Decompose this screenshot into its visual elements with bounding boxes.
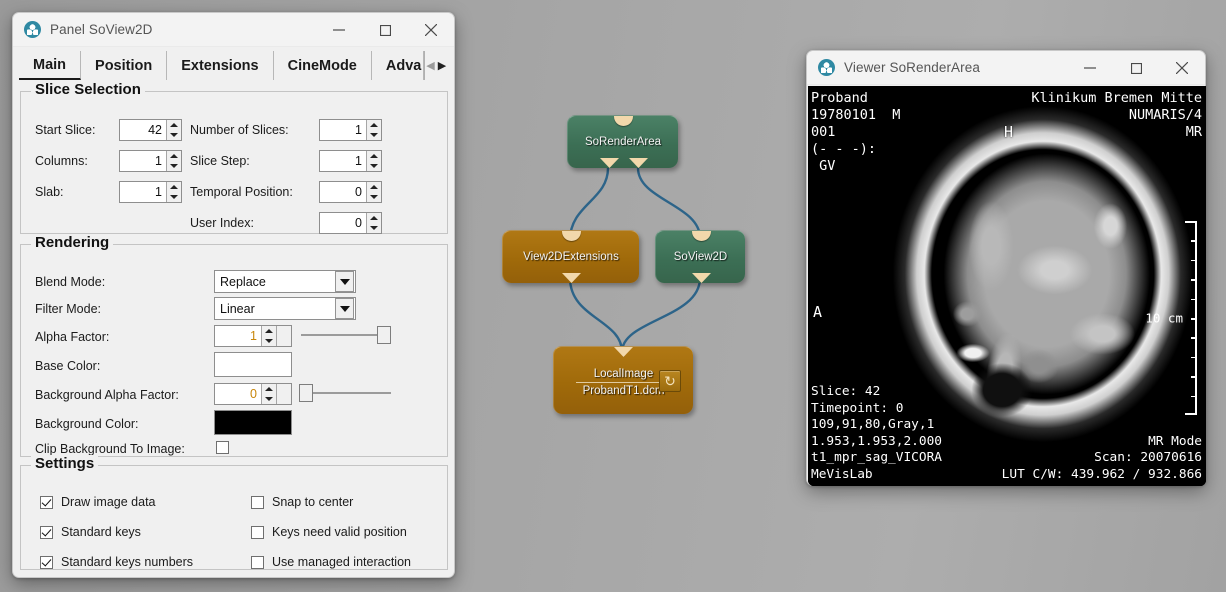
spin-down-icon[interactable]: [367, 223, 381, 233]
scale-bar-tick: [1191, 260, 1197, 262]
node-sublabel: ProbandT1.dcm: [583, 385, 665, 397]
checkbox-box[interactable]: [216, 441, 229, 454]
node-so-view2d[interactable]: SoView2D: [655, 230, 745, 283]
label-alpha-factor: Alpha Factor:: [35, 330, 109, 344]
group-rendering: Rendering Blend Mode: Replace Filter Mod…: [20, 244, 448, 457]
node-local-image[interactable]: LocalImage ProbandT1.dcm ↻: [553, 346, 693, 414]
combo-filter-mode[interactable]: Linear: [214, 297, 356, 320]
spin-arrows[interactable]: [366, 151, 381, 171]
checkbox-standard-keys-numbers[interactable]: Standard keys numbers: [40, 555, 193, 569]
group-slice-selection: Slice Selection Start Slice: 42 Number o…: [20, 91, 448, 234]
mevislab-icon: [24, 21, 41, 38]
spin-columns[interactable]: 1: [119, 150, 182, 172]
mri-detail: [951, 338, 995, 368]
tab-advanced[interactable]: Adva: [372, 51, 424, 80]
node-label: SoView2D: [674, 251, 728, 263]
viewer-canvas[interactable]: Proband 19780101 M 001 (- - -): GV Klini…: [808, 86, 1206, 486]
checkbox-label: Snap to center: [272, 495, 353, 509]
tab-label: CineMode: [288, 58, 357, 74]
spin-temporal-position[interactable]: 0: [319, 181, 382, 203]
spin-up-icon[interactable]: [167, 120, 181, 130]
close-icon[interactable]: [1159, 51, 1205, 85]
checkbox-box[interactable]: [251, 526, 264, 539]
spin-arrows[interactable]: [166, 120, 181, 140]
node-output-port[interactable]: [562, 273, 581, 283]
spin-down-icon[interactable]: [367, 192, 381, 202]
spin-up-icon[interactable]: [367, 151, 381, 161]
checkbox-draw-image-data[interactable]: Draw image data: [40, 495, 156, 509]
spin-arrows[interactable]: [366, 182, 381, 202]
tab-cinemode[interactable]: CineMode: [274, 51, 372, 80]
overlay-bottom-right: MR Mode Scan: 20070616 LUT C/W: 439.962 …: [1002, 434, 1202, 484]
scale-bar: 10 cm: [1127, 221, 1197, 415]
spin-value: 0: [320, 213, 366, 233]
node-label: SoRenderArea: [585, 136, 661, 148]
spin-user-index[interactable]: 0: [319, 212, 382, 234]
viewer-window: Viewer SoRenderArea Proband 19780101 M 0…: [806, 50, 1206, 486]
minimize-icon[interactable]: [316, 13, 362, 47]
panel-tabbar: Main Position Extensions CineMode Adva ◀…: [19, 49, 448, 80]
spin-value: 1: [120, 151, 166, 171]
connection-line: [570, 278, 622, 352]
overlay-top-right: Klinikum Bremen Mitte NUMARIS/4 MR: [1031, 90, 1202, 141]
spin-arrows[interactable]: [166, 182, 181, 202]
label-clip-background-to-image: Clip Background To Image:: [35, 442, 185, 456]
color-background[interactable]: [214, 410, 292, 435]
spin-value: 1: [120, 182, 166, 202]
panel-titlebar[interactable]: Panel SoView2D: [13, 13, 454, 47]
spin-down-icon[interactable]: [367, 161, 381, 171]
spin-value: 1: [215, 326, 261, 346]
checkbox-box[interactable]: [251, 496, 264, 509]
tab-label: Position: [95, 58, 152, 74]
spin-value: 0: [320, 182, 366, 202]
spin-slab[interactable]: 1: [119, 181, 182, 203]
label-base-color: Base Color:: [35, 359, 100, 373]
node-label: View2DExtensions: [523, 251, 619, 263]
label-blend-mode: Blend Mode:: [35, 275, 105, 289]
tab-position[interactable]: Position: [81, 51, 167, 80]
spin-up-icon[interactable]: [367, 182, 381, 192]
scale-bar-cap-top: [1185, 221, 1197, 223]
checkbox-use-managed-interaction[interactable]: Use managed interaction: [251, 555, 411, 569]
chevron-down-icon[interactable]: [335, 298, 354, 319]
spin-down-icon[interactable]: [367, 130, 381, 140]
scale-bar-tick: [1191, 240, 1197, 242]
node-so-render-area[interactable]: SoRenderArea: [567, 115, 678, 168]
checkbox-box[interactable]: [40, 556, 53, 569]
group-title: Rendering: [31, 234, 113, 251]
group-title: Settings: [31, 455, 98, 472]
scale-bar-tick: [1191, 396, 1197, 398]
node-label: LocalImage: [594, 368, 653, 380]
combo-blend-mode[interactable]: Replace: [214, 270, 356, 293]
scale-bar-tick: [1191, 318, 1197, 320]
node-output-port-right[interactable]: [629, 158, 648, 168]
spin-arrows[interactable]: [261, 326, 276, 346]
spin-alpha-factor[interactable]: 1: [214, 325, 292, 347]
close-icon[interactable]: [408, 13, 454, 47]
label-start-slice: Start Slice:: [35, 123, 95, 137]
spin-slice-step[interactable]: 1: [319, 150, 382, 172]
tab-label: Main: [33, 57, 66, 73]
panel-window-controls: [316, 13, 454, 47]
label-background-color: Background Color:: [35, 417, 139, 431]
checkbox-label: Use managed interaction: [272, 555, 411, 569]
minimize-icon[interactable]: [1067, 51, 1113, 85]
label-user-index: User Index:: [190, 216, 254, 230]
spin-up-icon[interactable]: [262, 326, 276, 336]
spin-down-icon[interactable]: [262, 336, 276, 346]
checkbox-label: Standard keys numbers: [61, 555, 193, 569]
overlay-orientation-anterior: A: [813, 304, 822, 321]
scale-bar-tick: [1191, 357, 1197, 359]
spin-fast-down-icon[interactable]: [277, 336, 291, 346]
scale-bar-tick: [1191, 299, 1197, 301]
spin-down-icon[interactable]: [167, 161, 181, 171]
tab-main[interactable]: Main: [19, 51, 81, 80]
spin-number-of-slices[interactable]: 1: [319, 119, 382, 141]
connection-line: [638, 168, 700, 238]
label-slab: Slab:: [35, 185, 64, 199]
checkbox-standard-keys[interactable]: Standard keys: [40, 525, 141, 539]
panel-window: Panel SoView2D Main Position Extensions …: [12, 12, 455, 578]
checkbox-keys-need-valid-position[interactable]: Keys need valid position: [251, 525, 407, 539]
scale-bar-tick: [1191, 279, 1197, 281]
slider-alpha-factor[interactable]: [301, 326, 391, 344]
spin-arrows[interactable]: [166, 151, 181, 171]
spin-background-alpha-factor[interactable]: 0: [214, 383, 292, 405]
network-connections: [460, 0, 805, 592]
maximize-icon[interactable]: [1113, 51, 1159, 85]
node-divider: [576, 382, 672, 383]
spin-value: 0: [215, 384, 261, 404]
spin-value: 42: [120, 120, 166, 140]
spin-arrows[interactable]: [366, 213, 381, 233]
group-settings: Settings Draw image data Snap to center …: [20, 465, 448, 570]
chevron-left-icon[interactable]: ◀: [424, 51, 436, 80]
node-output-port[interactable]: [692, 273, 711, 283]
viewer-titlebar[interactable]: Viewer SoRenderArea: [807, 51, 1205, 85]
spin-up-icon[interactable]: [367, 120, 381, 130]
overlay-bottom-left: Slice: 42 Timepoint: 0 109,91,80,Gray,1 …: [811, 384, 942, 483]
spin-up-icon[interactable]: [262, 384, 276, 394]
checkbox-snap-to-center[interactable]: Snap to center: [251, 495, 353, 509]
label-temporal-position: Temporal Position:: [190, 185, 293, 199]
checkbox-box[interactable]: [40, 526, 53, 539]
spin-fast-up-icon[interactable]: [277, 326, 291, 336]
label-columns: Columns:: [35, 154, 88, 168]
spin-down-icon[interactable]: [262, 394, 276, 404]
spin-value: 1: [320, 120, 366, 140]
checkbox-clip-background-to-image[interactable]: [216, 441, 237, 454]
spin-up-icon[interactable]: [367, 213, 381, 223]
spin-start-slice[interactable]: 42: [119, 119, 182, 141]
checkbox-label: Draw image data: [61, 495, 156, 509]
label-slice-step: Slice Step:: [190, 154, 250, 168]
node-input-port[interactable]: [692, 231, 711, 241]
scale-bar-label: 10 cm: [1145, 311, 1183, 326]
spin-down-icon[interactable]: [167, 130, 181, 140]
maximize-icon[interactable]: [362, 13, 408, 47]
combo-value: Replace: [215, 275, 335, 289]
spin-fast-up-icon[interactable]: [277, 384, 291, 394]
color-base[interactable]: [214, 352, 292, 377]
label-background-alpha-factor: Background Alpha Factor:: [35, 388, 179, 402]
tab-scroll-controls: ◀ ▶: [424, 51, 448, 80]
node-view2d-extensions[interactable]: View2DExtensions: [502, 230, 639, 283]
label-filter-mode: Filter Mode:: [35, 302, 101, 316]
overlay-top-left: Proband 19780101 M 001 (- - -): GV: [811, 90, 900, 175]
slider-background-alpha-factor[interactable]: [299, 384, 391, 402]
tab-label: Extensions: [181, 58, 258, 74]
tab-label: Adva: [386, 58, 421, 74]
spin-arrows-fast[interactable]: [276, 326, 291, 346]
node-input-port[interactable]: [614, 347, 633, 357]
checkbox-box[interactable]: [40, 496, 53, 509]
slider-handle[interactable]: [377, 326, 391, 344]
mevislab-icon: [818, 59, 835, 76]
chevron-down-icon[interactable]: [335, 271, 354, 292]
label-number-of-slices: Number of Slices:: [190, 123, 289, 137]
scale-bar-tick: [1191, 337, 1197, 339]
scale-bar-tick: [1191, 376, 1197, 378]
node-output-port-left[interactable]: [600, 158, 619, 168]
viewer-title: Viewer SoRenderArea: [844, 60, 980, 75]
overlay-orientation-head: H: [1004, 124, 1013, 141]
group-title: Slice Selection: [31, 81, 145, 98]
scale-bar-cap-bottom: [1185, 413, 1197, 415]
network-graph: SoRenderArea View2DExtensions SoView2D L…: [460, 0, 805, 592]
panel-title: Panel SoView2D: [50, 22, 152, 37]
spin-value: 1: [320, 151, 366, 171]
spin-fast-down-icon[interactable]: [277, 394, 291, 404]
checkbox-box[interactable]: [251, 556, 264, 569]
node-input-port[interactable]: [614, 116, 633, 126]
checkbox-label: Standard keys: [61, 525, 141, 539]
node-input-port[interactable]: [562, 231, 581, 241]
spin-up-icon[interactable]: [167, 182, 181, 192]
spin-arrows-fast[interactable]: [276, 384, 291, 404]
connection-line: [622, 278, 700, 352]
refresh-icon[interactable]: ↻: [659, 370, 681, 392]
spin-arrows[interactable]: [366, 120, 381, 140]
spin-up-icon[interactable]: [167, 151, 181, 161]
tab-extensions[interactable]: Extensions: [167, 51, 273, 80]
checkbox-label: Keys need valid position: [272, 525, 407, 539]
combo-value: Linear: [215, 302, 335, 316]
slider-handle[interactable]: [299, 384, 313, 402]
chevron-right-icon[interactable]: ▶: [436, 51, 448, 80]
spin-down-icon[interactable]: [167, 192, 181, 202]
viewer-window-controls: [1067, 51, 1205, 85]
spin-arrows[interactable]: [261, 384, 276, 404]
